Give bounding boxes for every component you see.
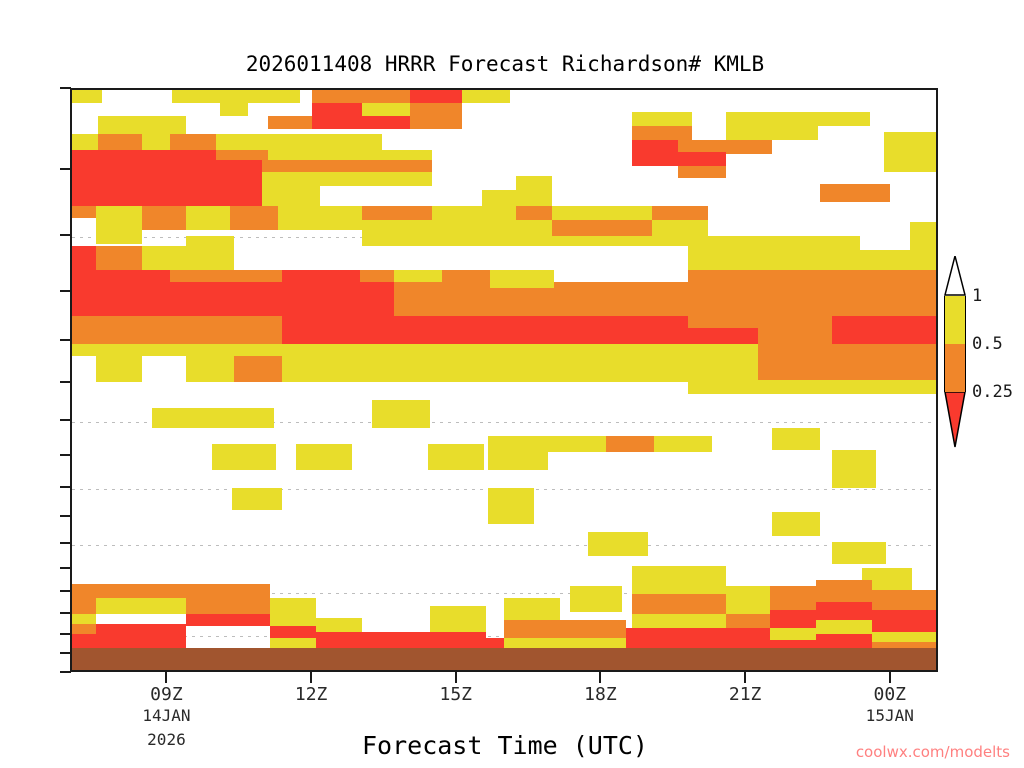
heatmap-cell (516, 176, 552, 206)
x-axis-tick-mark (599, 672, 601, 683)
heatmap-cell (232, 584, 270, 614)
heatmap-cell (186, 614, 232, 626)
heatmap-cell (270, 638, 316, 648)
heatmap-cell (482, 190, 516, 220)
heatmap-cell (820, 184, 890, 202)
heatmap-cell (96, 584, 142, 598)
x-axis-tick-mark (889, 672, 891, 683)
heatmap-cell (72, 316, 96, 344)
heatmap-cell (410, 90, 462, 103)
heatmap-cell (758, 380, 832, 394)
heatmap-cell (606, 436, 654, 452)
heatmap-cell (688, 282, 758, 316)
heatmap-cell (548, 436, 606, 452)
heatmap-cell (688, 236, 764, 270)
heatmap-cell (278, 206, 362, 230)
y-axis-tick-mark (60, 454, 71, 456)
heatmap-cell (504, 598, 560, 620)
terrain-band (72, 648, 936, 670)
heatmap-cell (632, 594, 726, 614)
chart-canvas: 2026011408 HRRR Forecast Richardson# KML… (0, 0, 1024, 768)
colorbar-legend[interactable]: 10.50.25 (944, 296, 966, 482)
heatmap-cell (872, 632, 938, 642)
heatmap-cell (142, 598, 186, 614)
heatmap-cell (442, 270, 490, 316)
heatmap-cell (186, 584, 232, 614)
heatmap-cell (234, 270, 282, 282)
heatmap-cell (588, 532, 648, 556)
heatmap-cell (96, 230, 142, 244)
heatmap-cell (394, 316, 490, 344)
heatmap-cell (612, 344, 688, 356)
heatmap-cell (832, 316, 938, 344)
heatmap-cell (490, 344, 612, 356)
heatmap-cell (678, 152, 726, 166)
colorbar-tick-label: 0.25 (972, 382, 1013, 402)
heatmap-cell (72, 614, 96, 624)
heatmap-cell (142, 344, 282, 356)
heatmap-cell (232, 614, 270, 626)
heatmap-cell (872, 590, 938, 610)
x-axis-tick-mark (744, 672, 746, 683)
heatmap-cell (688, 316, 758, 328)
y-axis-tick-mark (60, 419, 71, 421)
heatmap-cell (816, 602, 872, 620)
x-axis-tick-label: 12Z (295, 684, 328, 705)
colorbar-under-arrow (944, 392, 966, 432)
heatmap-cell (96, 344, 142, 382)
heatmap-cell (152, 408, 210, 428)
heatmap-cell (860, 250, 938, 270)
heatmap-cell (394, 282, 442, 316)
heatmap-cell (832, 344, 938, 380)
heatmap-cell (632, 126, 692, 140)
heatmap-cell (312, 90, 362, 103)
y-axis-tick-mark (60, 567, 71, 569)
heatmap-cell (142, 624, 186, 634)
heatmap-cell (230, 206, 278, 230)
heatmap-plot-area[interactable] (70, 88, 938, 672)
heatmap-cell (282, 344, 394, 356)
heatmap-cell (816, 620, 872, 634)
heatmap-cell (678, 140, 726, 152)
heatmap-cell (372, 400, 430, 428)
heatmap-cell (432, 220, 510, 236)
heatmap-cell (726, 614, 770, 628)
heatmap-cell (234, 246, 262, 270)
heatmap-cell (96, 316, 142, 344)
heatmap-cell (216, 316, 282, 344)
y-axis-tick-mark (60, 168, 71, 170)
heatmap-cell (654, 436, 712, 452)
heatmap-cell (72, 186, 262, 206)
heatmap-cell (312, 103, 362, 129)
heatmap-cell (362, 103, 410, 116)
heatmap-cell (410, 116, 462, 129)
heatmap-cell (612, 316, 688, 344)
y-axis-tick-mark (60, 542, 71, 544)
heatmap-cell (142, 246, 186, 270)
heatmap-cells (72, 90, 936, 670)
heatmap-cell (360, 270, 394, 282)
y-axis-tick-mark (60, 290, 71, 292)
heatmap-cell (296, 444, 352, 470)
colorbar-tick-label: 1 (972, 286, 982, 306)
heatmap-cell (632, 112, 692, 126)
heatmap-cell (772, 428, 820, 450)
heatmap-cell (362, 90, 410, 103)
heatmap-cell (410, 103, 462, 116)
heatmap-cell (726, 586, 770, 614)
y-axis-tick-mark (60, 612, 71, 614)
heatmap-cell (262, 172, 432, 186)
y-axis-tick-mark (60, 486, 71, 488)
heatmap-cell (910, 222, 938, 250)
heatmap-cell (612, 356, 688, 382)
heatmap-cell (632, 566, 726, 594)
x-axis-tick-sublabel: 15JAN (866, 706, 914, 725)
heatmap-cell (490, 288, 554, 316)
heatmap-cell (688, 270, 758, 282)
x-axis-tick-mark (455, 672, 457, 683)
heatmap-cell (758, 344, 832, 380)
heatmap-cell (612, 282, 688, 316)
y-axis-tick-mark (60, 381, 71, 383)
heatmap-cell (362, 116, 410, 129)
heatmap-cell (142, 584, 186, 598)
heatmap-cell (884, 132, 938, 172)
heatmap-cell (216, 150, 268, 160)
heatmap-cell (872, 610, 938, 632)
watermark: coolwx.com/modelts (856, 743, 1010, 761)
heatmap-cell (430, 606, 486, 632)
heatmap-cell (832, 450, 876, 488)
x-axis-tick-label: 09Z (150, 684, 183, 705)
heatmap-cell (172, 90, 220, 103)
x-axis-tick-label: 00Z (874, 684, 907, 705)
heatmap-cell (832, 270, 938, 316)
heatmap-cell (510, 220, 552, 236)
heatmap-cell (268, 150, 382, 160)
heatmap-cell (860, 236, 910, 250)
y-axis-tick-mark (60, 652, 71, 654)
heatmap-cell (282, 356, 394, 382)
y-axis-tick-mark (60, 515, 71, 517)
heatmap-cell (632, 614, 726, 628)
heatmap-cell (282, 316, 394, 344)
heatmap-cell (72, 584, 96, 598)
heatmap-cell (432, 206, 482, 220)
heatmap-cell (96, 246, 142, 270)
heatmap-cell (688, 344, 758, 380)
heatmap-cell (186, 356, 234, 382)
heatmap-cell (726, 112, 818, 140)
heatmap-cell (72, 90, 102, 103)
heatmap-cell (210, 408, 274, 428)
heatmap-cell (72, 150, 216, 160)
heatmap-cell (570, 586, 622, 612)
heatmap-cell (504, 620, 626, 638)
heatmap-cell (488, 488, 534, 524)
y-axis-tick-mark (60, 87, 71, 89)
heatmap-cell (248, 90, 300, 103)
heatmap-cell (232, 488, 282, 510)
colorbar-over-arrow (944, 256, 966, 296)
heatmap-cell (382, 150, 432, 160)
heatmap-cell (186, 236, 234, 270)
heatmap-cell (394, 270, 442, 282)
heatmap-cell (688, 328, 758, 344)
heatmap-cell (394, 356, 490, 382)
heatmap-cell (268, 116, 312, 129)
heatmap-cell (72, 160, 262, 186)
heatmap-cell (818, 112, 870, 126)
heatmap-cell (764, 236, 860, 270)
heatmap-cell (96, 206, 142, 230)
heatmap-cell (72, 598, 96, 614)
heatmap-cell (772, 512, 820, 536)
y-axis-tick-mark (60, 671, 71, 673)
heatmap-cell (726, 140, 772, 154)
heatmap-cell (72, 246, 96, 270)
heatmap-cell (462, 90, 510, 103)
heatmap-cell (72, 624, 96, 634)
heatmap-cell (490, 356, 612, 382)
heatmap-cell (678, 166, 726, 178)
heatmap-cell (758, 270, 832, 316)
heatmap-cell (270, 626, 316, 638)
heatmap-cell (770, 586, 816, 610)
heatmap-cell (758, 316, 832, 344)
heatmap-cell (262, 160, 362, 172)
heatmap-cell (832, 380, 938, 394)
heatmap-cell (282, 270, 360, 316)
heatmap-cell (72, 206, 96, 218)
heatmap-cell (170, 270, 236, 282)
heatmap-cell (488, 436, 548, 470)
colorbar-segment[interactable] (944, 296, 966, 344)
heatmap-cell (490, 316, 612, 344)
heatmap-cell (490, 270, 554, 288)
heatmap-cell (186, 206, 230, 230)
heatmap-cell (234, 356, 282, 382)
heatmap-cell (72, 282, 282, 316)
heatmap-cell (688, 380, 758, 394)
heatmap-cell (516, 206, 552, 220)
heatmap-cell (770, 610, 816, 628)
heatmap-cell (220, 90, 248, 116)
colorbar-segment[interactable] (944, 344, 966, 392)
colorbar-tick-label: 0.5 (972, 334, 1003, 354)
heatmap-cell (262, 186, 320, 206)
heatmap-cell (72, 270, 96, 282)
heatmap-cell (554, 282, 612, 316)
y-axis-tick-mark (60, 339, 71, 341)
heatmap-cell (394, 344, 490, 356)
heatmap-cell (360, 282, 394, 316)
x-axis-tick-label: 15Z (440, 684, 473, 705)
heatmap-cell (382, 236, 586, 246)
heatmap-cell (96, 598, 142, 614)
x-axis-tick-label: 18Z (584, 684, 617, 705)
heatmap-cell (598, 206, 652, 220)
heatmap-cell (270, 598, 316, 626)
heatmap-cell (428, 444, 484, 470)
heatmap-cell (212, 444, 276, 470)
x-axis-tick-mark (165, 672, 167, 683)
heatmap-cell (142, 206, 186, 230)
y-axis-tick-mark (60, 590, 71, 592)
chart-title: 2026011408 HRRR Forecast Richardson# KML… (0, 52, 1010, 76)
heatmap-cell (142, 316, 216, 344)
y-axis-tick-mark (60, 633, 71, 635)
heatmap-cell (362, 160, 432, 172)
heatmap-cell (586, 236, 696, 246)
heatmap-cell (632, 140, 678, 166)
heatmap-cell (770, 628, 816, 640)
x-axis-tick-mark (310, 672, 312, 683)
heatmap-cell (96, 624, 142, 634)
heatmap-cell (816, 580, 872, 602)
heatmap-cell (652, 206, 708, 220)
x-axis-tick-sublabel: 14JAN (142, 706, 190, 725)
y-axis-tick-mark (60, 234, 71, 236)
x-axis-tick-label: 21Z (729, 684, 762, 705)
heatmap-cell (72, 344, 96, 356)
heatmap-cell (832, 542, 886, 564)
